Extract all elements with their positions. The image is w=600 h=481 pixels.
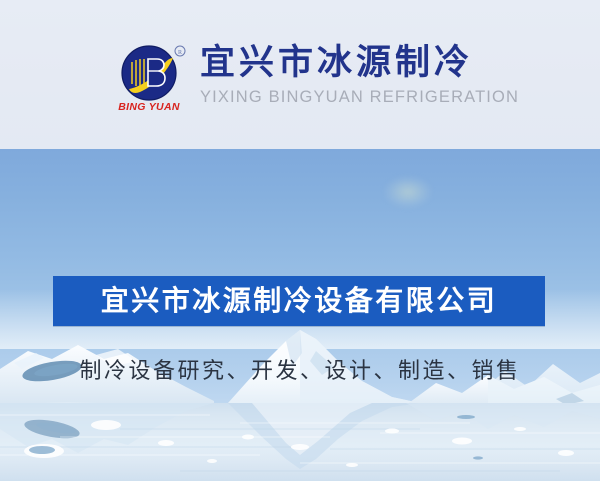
banner-subtitle: 制冷设备研究、开发、设计、制造、销售 [0, 361, 600, 383]
brand-name-chinese: 宜兴市冰源制冷 [200, 44, 519, 83]
hero-banner: 宜兴市冰源制冷设备有限公司 制冷设备研究、开发、设计、制造、销售 [0, 149, 600, 481]
sun-glow [385, 177, 431, 207]
water-reflection [0, 403, 600, 481]
svg-text:BING YUAN: BING YUAN [118, 101, 180, 113]
promo-banner-page: R BING YUAN 宜兴市冰源制冷 YIXING BINGYUAN REFR… [0, 0, 600, 481]
header-brand-block: R BING YUAN 宜兴市冰源制冷 YIXING BINGYUAN REFR… [112, 40, 519, 120]
site-header: R BING YUAN 宜兴市冰源制冷 YIXING BINGYUAN REFR… [0, 0, 600, 149]
company-name-band: 宜兴市冰源制冷设备有限公司 [53, 276, 545, 326]
bingyuan-circle-logo-icon: R BING YUAN [112, 40, 192, 120]
brand-name-english: YIXING BINGYUAN REFRIGERATION [200, 87, 519, 108]
company-name-text: 宜兴市冰源制冷设备有限公司 [101, 287, 498, 315]
header-wordmark: 宜兴市冰源制冷 YIXING BINGYUAN REFRIGERATION [200, 40, 519, 109]
svg-text:R: R [178, 50, 182, 56]
banner-subtitle-text: 制冷设备研究、开发、设计、制造、销售 [79, 359, 520, 384]
